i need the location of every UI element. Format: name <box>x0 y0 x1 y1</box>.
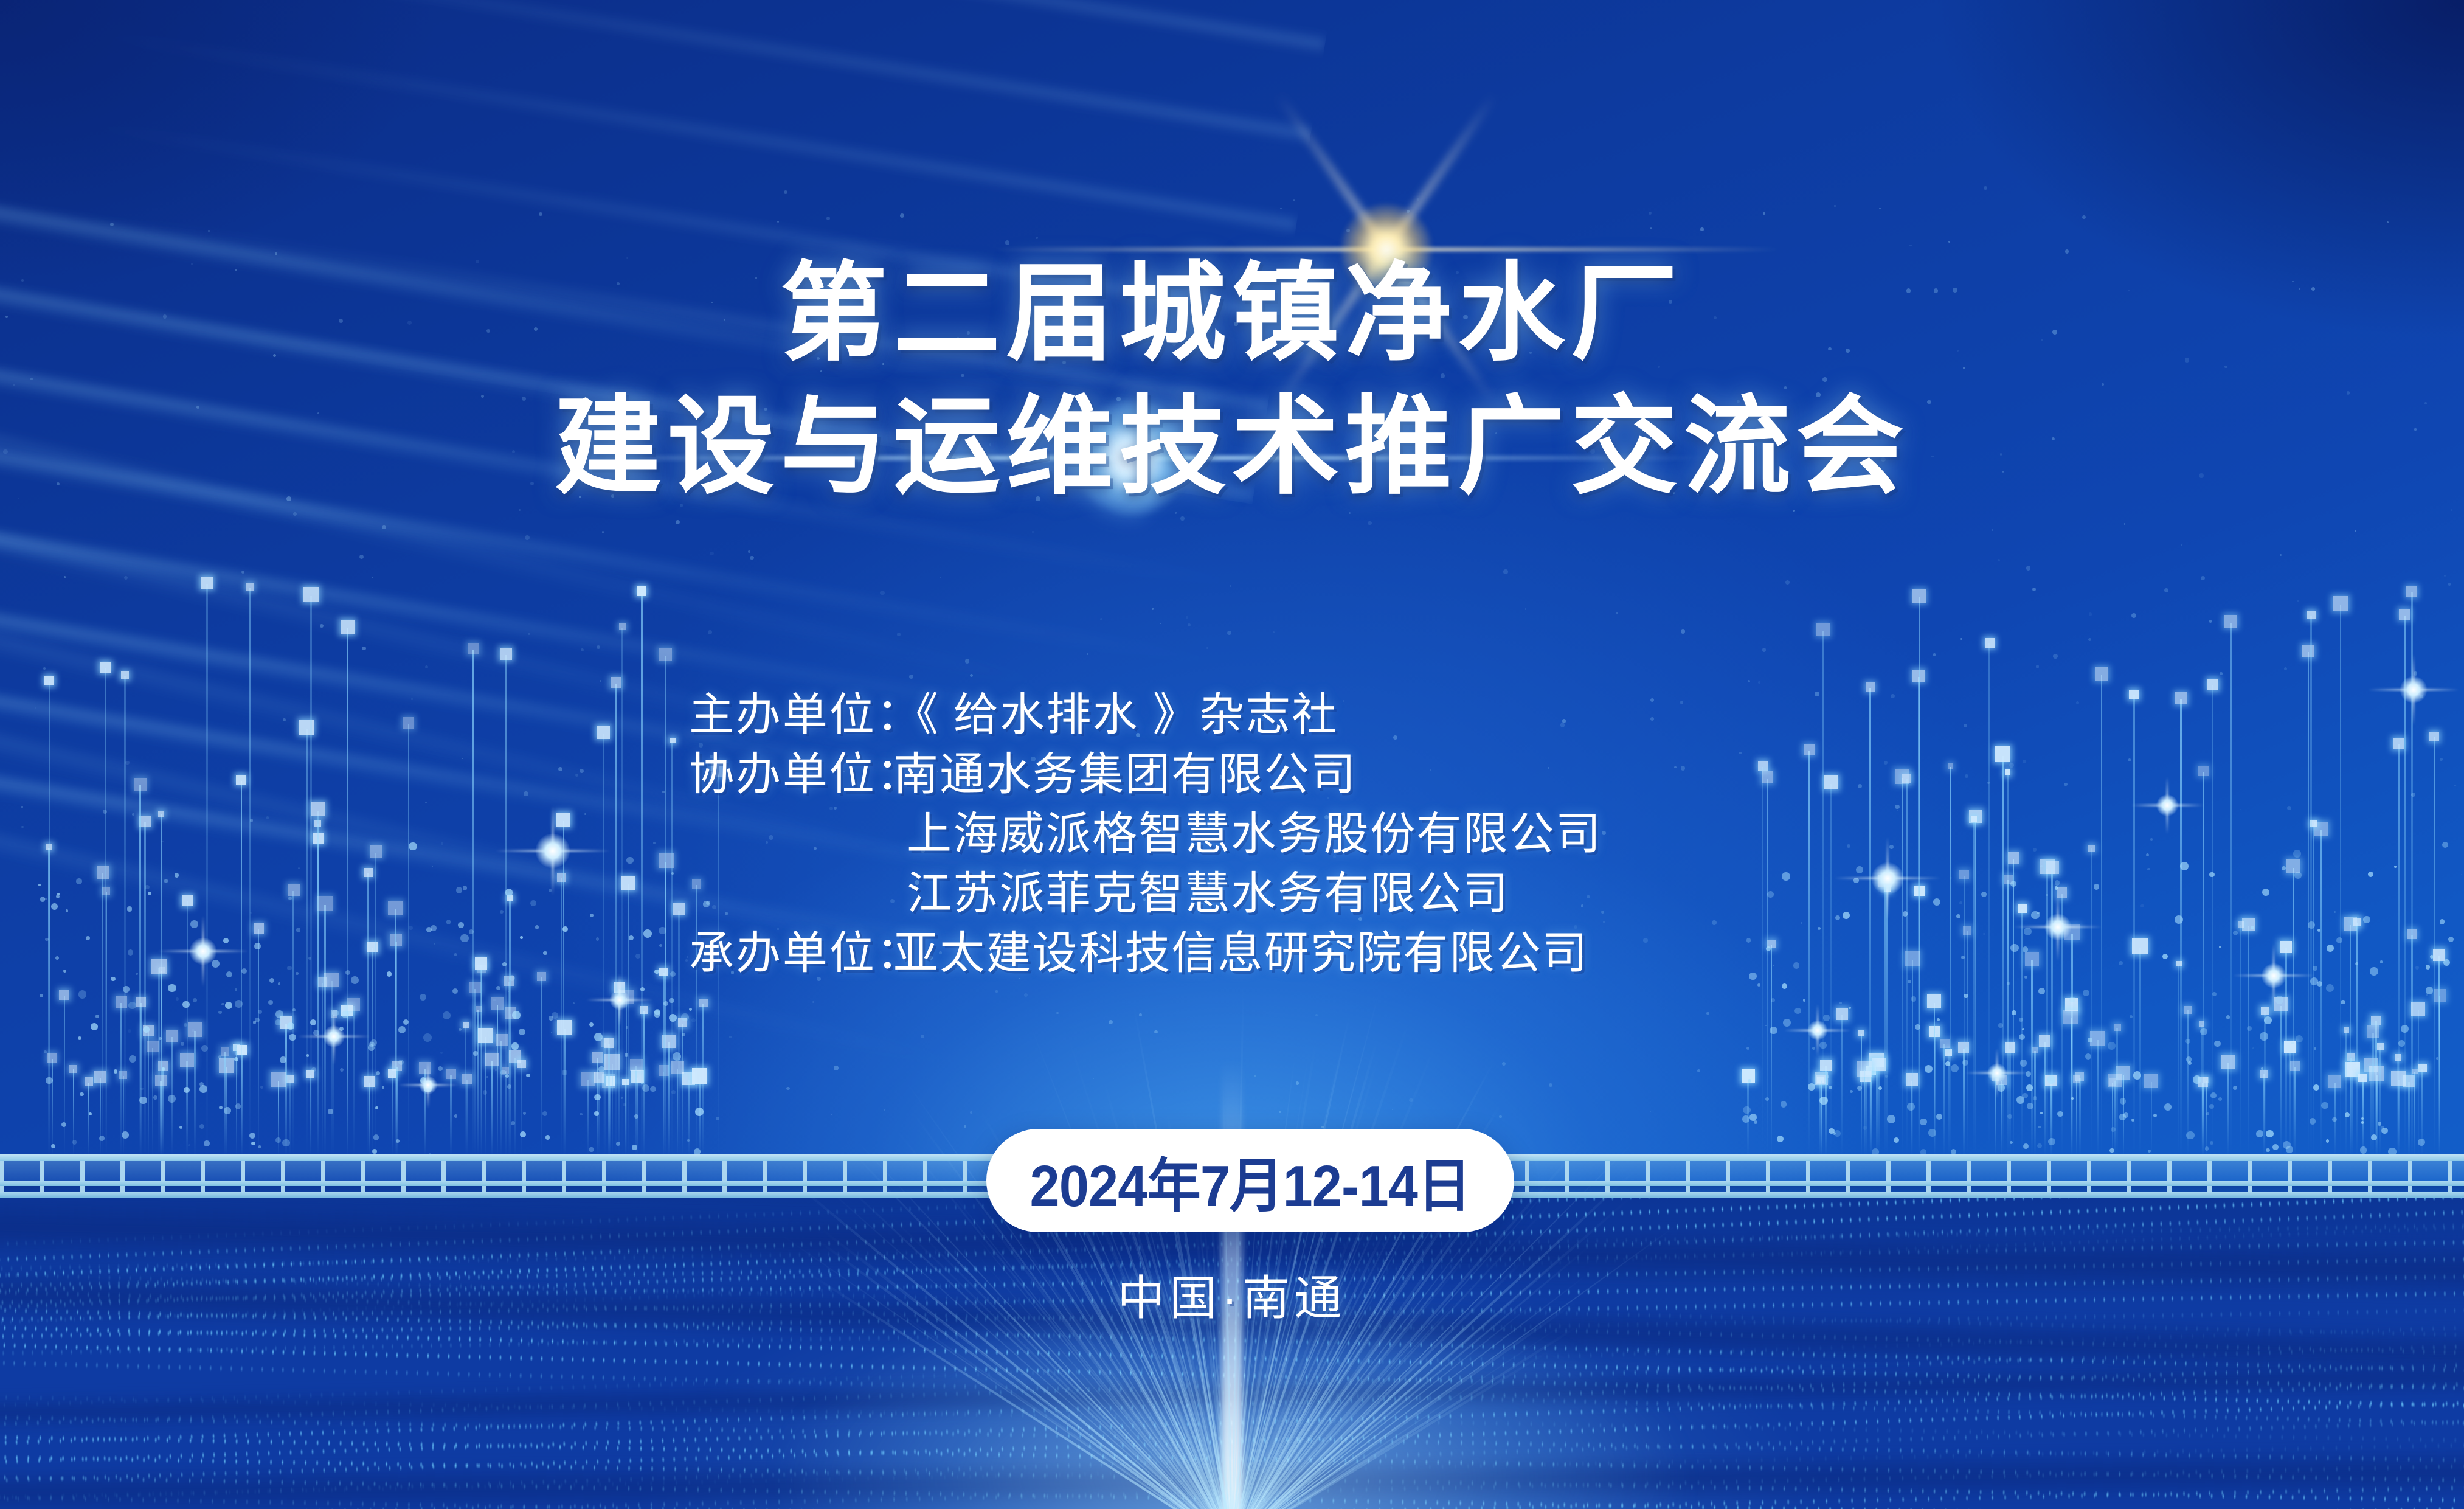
organization-row: 协办单位：南通水务集团有限公司 <box>689 738 1602 797</box>
organization-label: 承办单位： <box>689 917 893 982</box>
organization-name: 上海威派格智慧水务股份有限公司 <box>907 797 1602 862</box>
title-line-1: 第二届城镇净水厂 <box>0 254 2464 374</box>
poster-content: 第二届城镇净水厂 建设与运维技术推广交流会 主办单位：《 给水排水 》杂志社协办… <box>0 0 2464 1509</box>
organization-name: 江苏派菲克智慧水务有限公司 <box>907 857 1509 922</box>
poster-title: 第二届城镇净水厂 建设与运维技术推广交流会 <box>0 254 2464 507</box>
organization-row: 江苏派菲克智慧水务有限公司 <box>689 857 1602 917</box>
location-text: 中国·南通 <box>0 1260 2464 1328</box>
organization-row: 主办单位：《 给水排水 》杂志社 <box>689 678 1602 738</box>
organization-name: 《 给水排水 》杂志社 <box>893 678 1338 743</box>
date-badge: 2024年7月12-14日 <box>986 1129 1514 1232</box>
organization-row: 上海威派格智慧水务股份有限公司 <box>689 797 1602 857</box>
organization-label: 主办单位： <box>689 678 893 743</box>
organization-name: 南通水务集团有限公司 <box>893 738 1357 803</box>
organization-row: 承办单位：亚太建设科技信息研究院有限公司 <box>689 917 1602 976</box>
organizations-list: 主办单位：《 给水排水 》杂志社协办单位：南通水务集团有限公司上海威派格智慧水务… <box>689 678 1602 976</box>
date-text: 2024年7月12-14日 <box>1030 1139 1471 1223</box>
organization-label: 协办单位： <box>689 738 893 803</box>
organization-name: 亚太建设科技信息研究院有限公司 <box>893 917 1588 982</box>
conference-poster: 第二届城镇净水厂 建设与运维技术推广交流会 主办单位：《 给水排水 》杂志社协办… <box>0 0 2464 1509</box>
title-line-2: 建设与运维技术推广交流会 <box>0 387 2464 507</box>
